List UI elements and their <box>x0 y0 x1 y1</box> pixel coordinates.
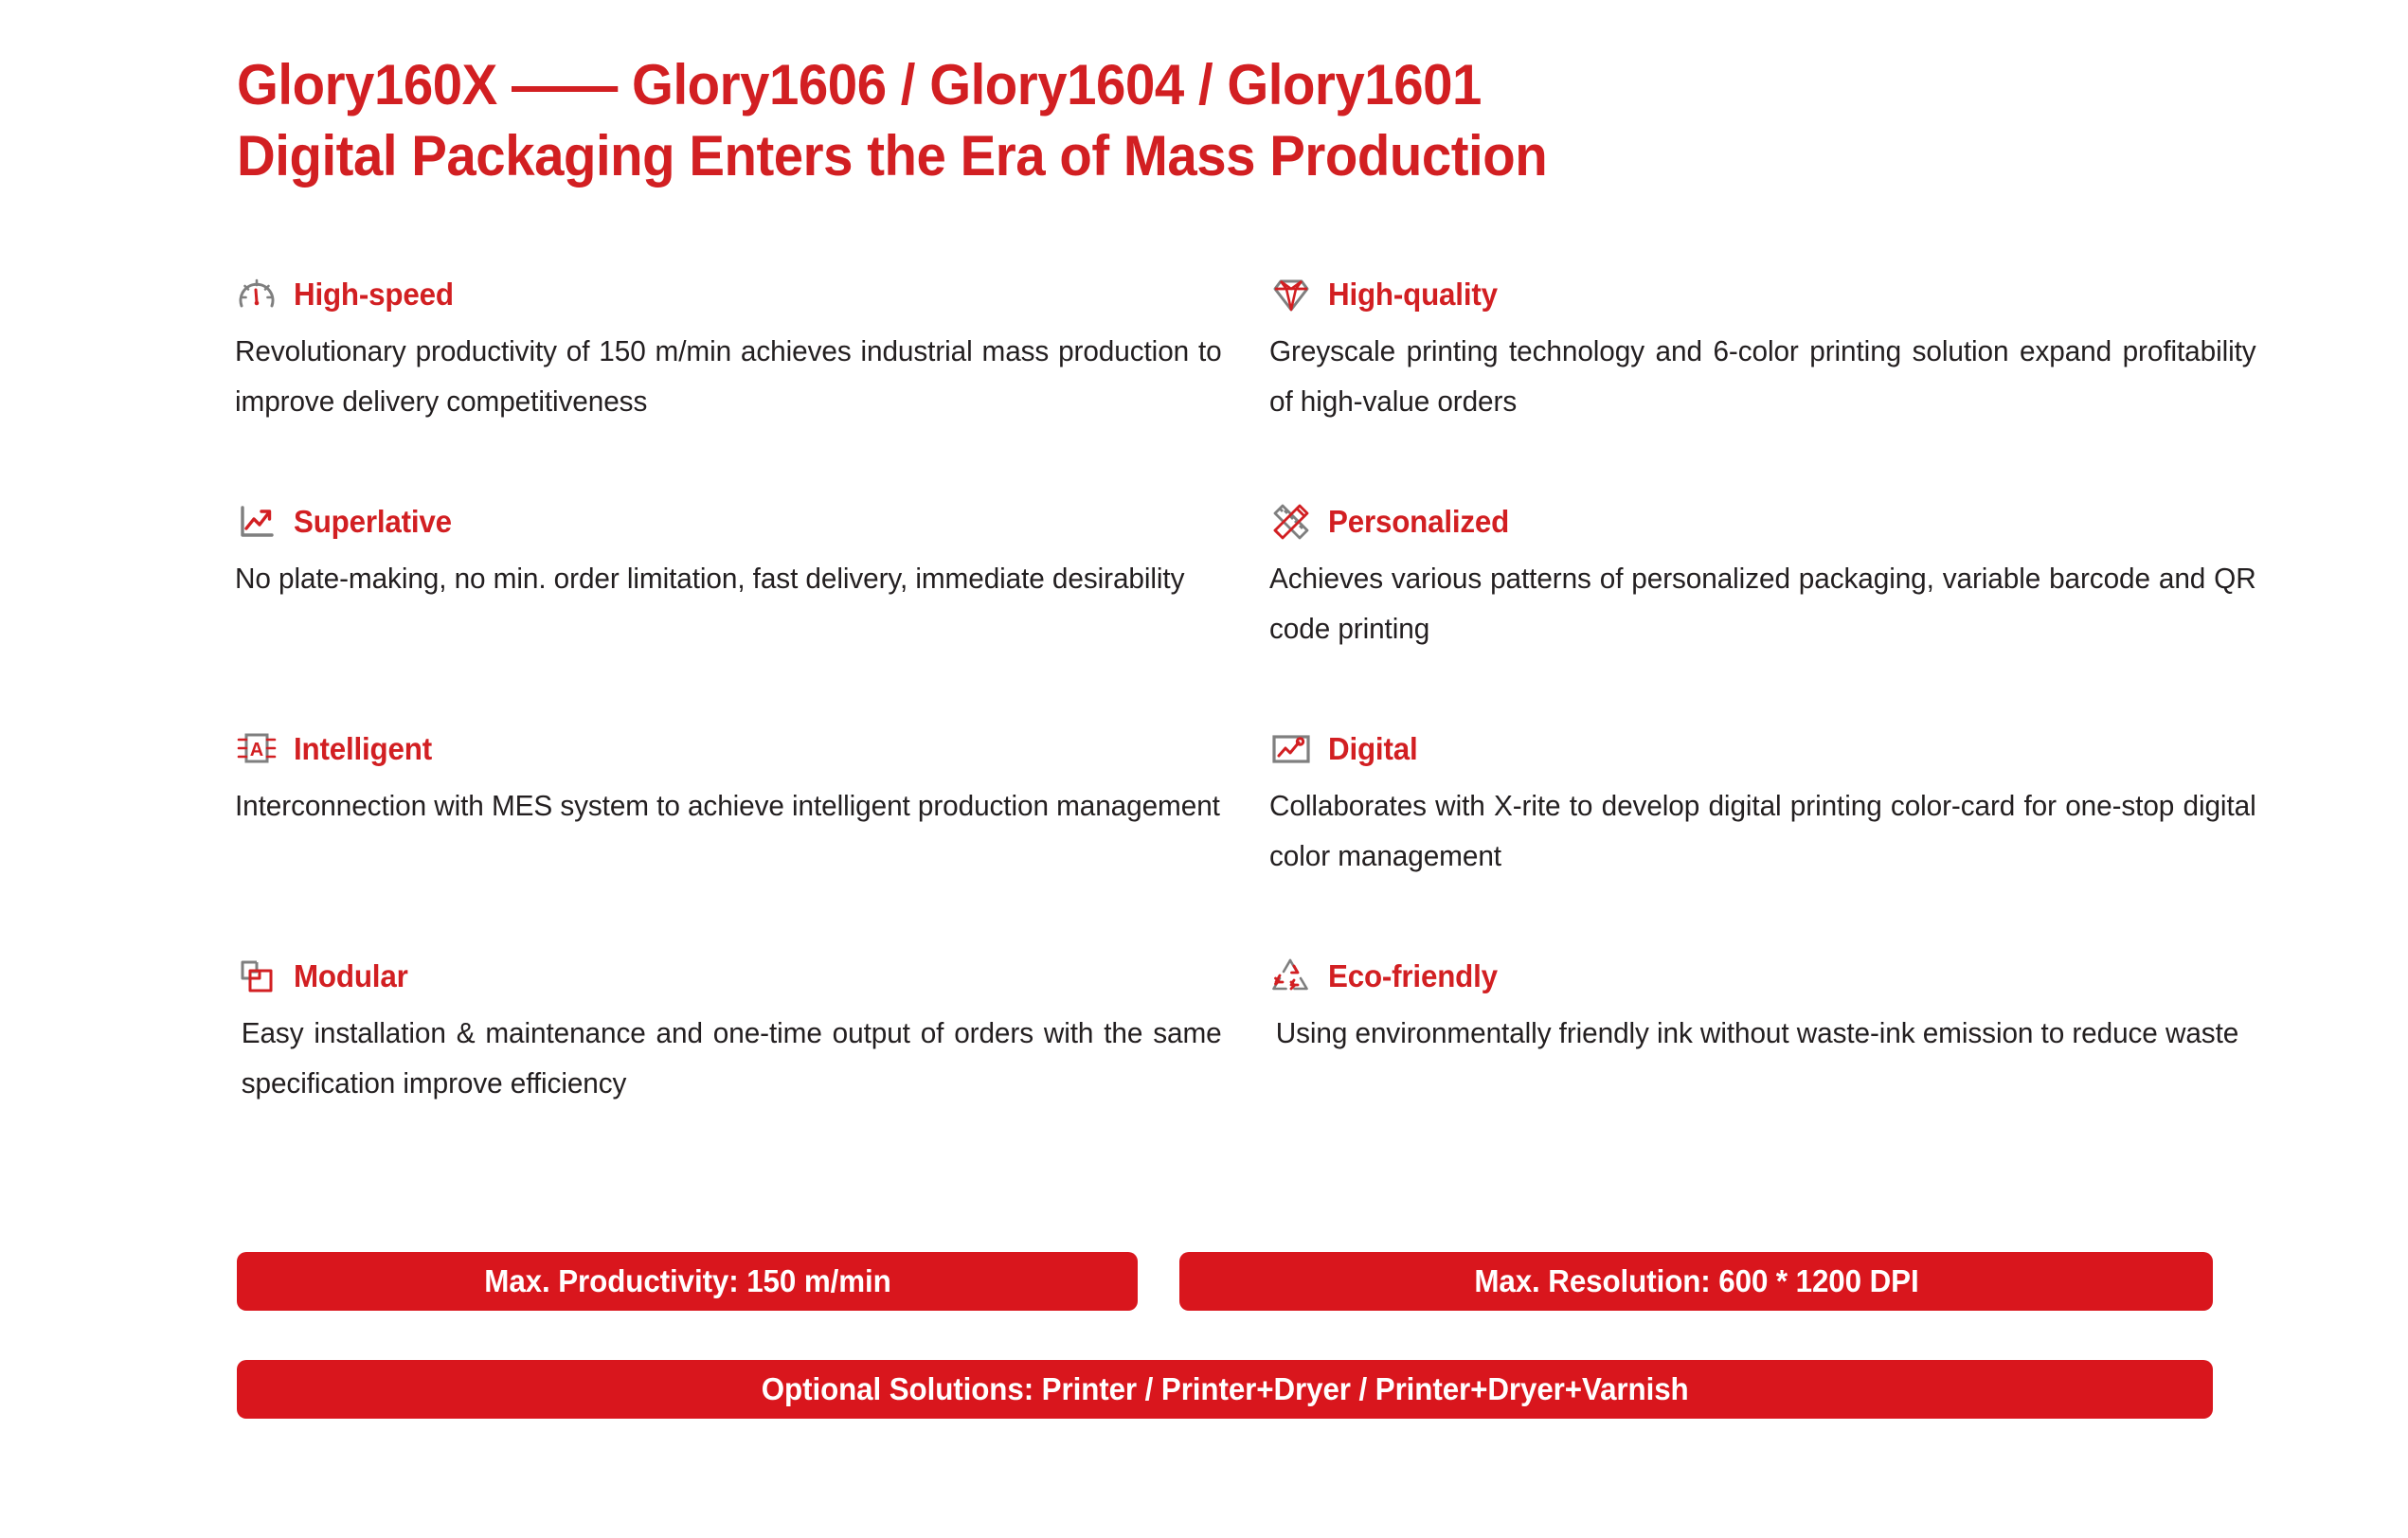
modules-icon <box>235 955 279 998</box>
banner-optional-solutions[interactable]: Optional Solutions: Printer / Printer+Dr… <box>237 1360 2213 1419</box>
feature-intelligent: A Intelligent Interconnection with MES s… <box>235 727 1220 955</box>
feature-header: Eco-friendly <box>1269 955 2255 998</box>
feature-eco-friendly: Eco-friendly Using environmentally frien… <box>1269 955 2255 1182</box>
feature-superlative: Superlative No plate-making, no min. ord… <box>235 500 1220 727</box>
feature-high-quality: High-quality Greyscale printing technolo… <box>1269 273 2255 500</box>
feature-description: Easy installation & maintenance and one-… <box>235 1008 1222 1108</box>
feature-header: Digital <box>1269 727 2255 771</box>
feature-description: Greyscale printing technology and 6-colo… <box>1269 326 2256 426</box>
feature-header: A Intelligent <box>235 727 1220 771</box>
banner-max-productivity[interactable]: Max. Productivity: 150 m/min <box>237 1252 1138 1311</box>
feature-description: Interconnection with MES system to achie… <box>235 780 1222 831</box>
diamond-icon <box>1269 273 1313 316</box>
feature-description: No plate-making, no min. order limitatio… <box>235 553 1222 603</box>
cpu-chip-icon: A <box>235 727 279 771</box>
feature-grid: High-speed Revolutionary productivity of… <box>235 273 2184 1182</box>
feature-digital: Digital Collaborates with X-rite to deve… <box>1269 727 2255 955</box>
feature-title: Digital <box>1328 730 1417 768</box>
feature-title: Eco-friendly <box>1328 957 1498 995</box>
feature-title: Superlative <box>294 503 452 541</box>
feature-title: High-quality <box>1328 276 1498 313</box>
feature-header: High-speed <box>235 273 1220 316</box>
banner-max-resolution-label: Max. Resolution: 600 * 1200 DPI <box>1474 1263 1918 1299</box>
pencil-ruler-icon <box>1269 500 1313 544</box>
feature-modular: Modular Easy installation & maintenance … <box>235 955 1220 1182</box>
feature-description: Collaborates with X-rite to develop digi… <box>1269 780 2256 881</box>
speedometer-icon <box>235 273 279 316</box>
feature-header: Modular <box>235 955 1220 998</box>
product-feature-page: Glory160X —— Glory1606 / Glory1604 / Glo… <box>0 0 2408 1538</box>
feature-description: Revolutionary productivity of 150 m/min … <box>235 326 1222 426</box>
feature-description: Achieves various patterns of personalize… <box>1269 553 2256 653</box>
feature-header: High-quality <box>1269 273 2255 316</box>
column-gap <box>1267 273 1268 500</box>
screen-chart-icon <box>1269 727 1313 771</box>
spec-banner-row: Max. Productivity: 150 m/min Max. Resolu… <box>237 1252 2213 1311</box>
page-title: Glory160X —— Glory1606 / Glory1604 / Glo… <box>237 49 2188 191</box>
svg-text:A: A <box>250 740 263 760</box>
recycle-icon <box>1269 955 1313 998</box>
feature-description: Using environmentally friendly ink witho… <box>1269 1008 2256 1058</box>
column-gap <box>1267 727 1268 955</box>
feature-header: Personalized <box>1269 500 2255 544</box>
spec-banner-group: Max. Productivity: 150 m/min Max. Resolu… <box>237 1252 2213 1419</box>
feature-title: High-speed <box>294 276 454 313</box>
column-gap <box>1267 955 1268 1182</box>
feature-personalized: Personalized Achieves various patterns o… <box>1269 500 2255 727</box>
banner-optional-solutions-label: Optional Solutions: Printer / Printer+Dr… <box>762 1371 1689 1407</box>
feature-title: Intelligent <box>294 730 432 768</box>
column-gap <box>1267 500 1268 727</box>
banner-max-productivity-label: Max. Productivity: 150 m/min <box>484 1263 890 1299</box>
page-title-line-2: Digital Packaging Enters the Era of Mass… <box>237 120 2071 191</box>
feature-title: Modular <box>294 957 408 995</box>
page-title-line-1: Glory160X —— Glory1606 / Glory1604 / Glo… <box>237 49 2071 120</box>
feature-title: Personalized <box>1328 503 1509 541</box>
feature-high-speed: High-speed Revolutionary productivity of… <box>235 273 1220 500</box>
banner-max-resolution[interactable]: Max. Resolution: 600 * 1200 DPI <box>1179 1252 2213 1311</box>
feature-header: Superlative <box>235 500 1220 544</box>
growth-chart-icon <box>235 500 279 544</box>
